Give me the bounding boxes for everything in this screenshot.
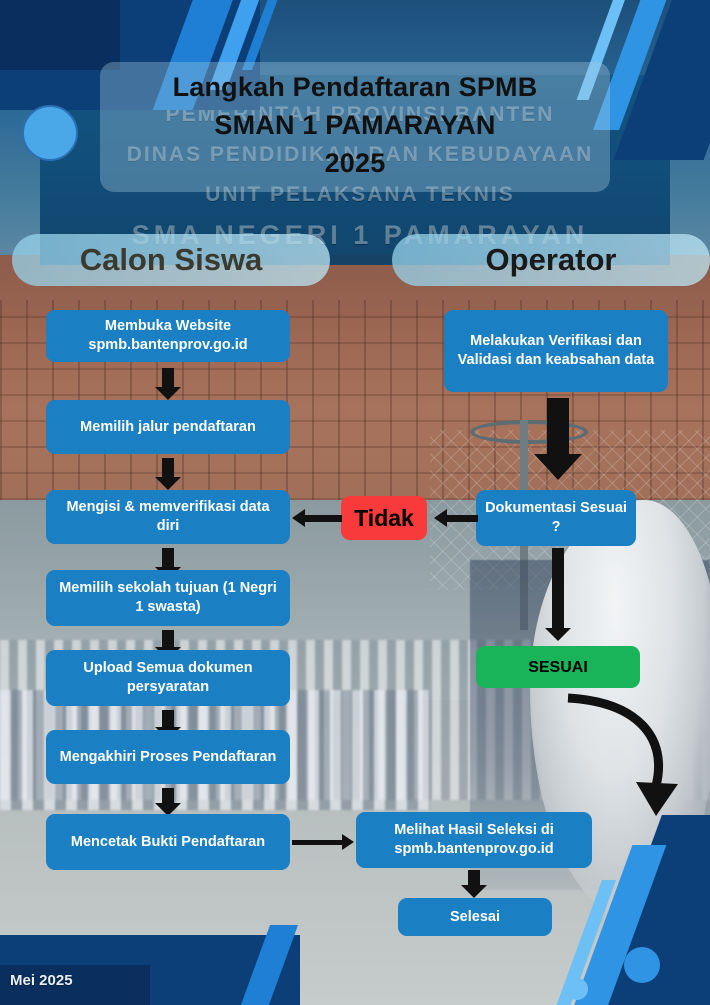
step-choose-school-label: Memilih sekolah tujuan (1 Negri 1 swasta… xyxy=(54,579,282,617)
step-end[interactable]: Selesai xyxy=(398,898,552,936)
arrow-path-to-data xyxy=(155,458,181,490)
step-finish-registration[interactable]: Mengakhiri Proses Pendaftaran xyxy=(46,730,290,784)
step-choose-path[interactable]: Memilih jalur pendaftaran xyxy=(46,400,290,454)
decision-documents-label: Dokumentasi Sesuai ? xyxy=(484,499,628,537)
step-open-website[interactable]: Membuka Website spmb.bantenprov.go.id xyxy=(46,310,290,362)
step-choose-path-label: Memilih jalur pendaftaran xyxy=(80,418,256,437)
step-print-proof[interactable]: Mencetak Bukti Pendaftaran xyxy=(46,814,290,870)
title-line-2: SMAN 1 PAMARAYAN xyxy=(100,106,610,144)
decision-yes-badge: SESUAI xyxy=(476,646,640,688)
arrow-decision-to-tidak xyxy=(434,509,478,527)
step-upload-documents[interactable]: Upload Semua dokumen persyaratan xyxy=(46,650,290,706)
arrow-decision-to-sesuai xyxy=(545,548,571,644)
arrow-open-to-path xyxy=(155,368,181,400)
step-fill-verify-data[interactable]: Mengisi & memverifikasi data diri xyxy=(46,490,290,544)
poster-root: PEMERINTAH PROVINSI BANTEN DINAS PENDIDI… xyxy=(0,0,710,1005)
title-line-3: 2025 xyxy=(100,144,610,182)
decision-yes-label: SESUAI xyxy=(528,658,588,677)
lane-header-calon-siswa-label: Calon Siswa xyxy=(80,242,263,278)
step-verification[interactable]: Melakukan Verifikasi dan Validasi dan ke… xyxy=(444,310,668,392)
arrow-finish-to-print xyxy=(155,788,181,816)
lane-header-calon-siswa: Calon Siswa xyxy=(12,234,330,286)
arrow-result-to-end xyxy=(461,870,487,898)
step-finish-registration-label: Mengakhiri Proses Pendaftaran xyxy=(60,748,277,767)
arrow-tidak-to-data xyxy=(292,509,342,527)
step-choose-school[interactable]: Memilih sekolah tujuan (1 Negri 1 swasta… xyxy=(46,570,290,626)
arrow-verification-to-decision xyxy=(534,398,582,482)
decision-no-badge: Tidak xyxy=(341,496,427,540)
step-upload-documents-label: Upload Semua dokumen persyaratan xyxy=(54,659,282,697)
arrow-sesuai-to-result xyxy=(560,690,690,825)
step-open-website-label: Membuka Website spmb.bantenprov.go.id xyxy=(54,317,282,355)
decor-top-left-block-dark xyxy=(0,0,120,70)
step-print-proof-label: Mencetak Bukti Pendaftaran xyxy=(71,833,265,852)
decor-circle-badge xyxy=(22,105,78,161)
decor-bottom-right-circle xyxy=(624,947,660,983)
lane-header-operator-label: Operator xyxy=(486,242,617,278)
step-verification-label: Melakukan Verifikasi dan Validasi dan ke… xyxy=(452,332,660,370)
title-line-1: Langkah Pendaftaran SPMB xyxy=(100,68,610,106)
step-fill-verify-data-label: Mengisi & memverifikasi data diri xyxy=(54,498,282,536)
footer-date: Mei 2025 xyxy=(10,972,73,989)
decision-no-label: Tidak xyxy=(354,509,414,528)
page-title: Langkah Pendaftaran SPMB SMAN 1 PAMARAYA… xyxy=(100,62,610,192)
step-end-label: Selesai xyxy=(450,908,500,927)
decision-documents[interactable]: Dokumentasi Sesuai ? xyxy=(476,490,636,546)
lane-header-operator: Operator xyxy=(392,234,710,286)
step-view-result[interactable]: Melihat Hasil Seleksi di spmb.bantenprov… xyxy=(356,812,592,868)
step-view-result-label: Melihat Hasil Seleksi di spmb.bantenprov… xyxy=(364,821,584,859)
decor-bottom-right-circle-small xyxy=(566,978,588,1000)
arrow-print-to-result xyxy=(292,834,354,850)
